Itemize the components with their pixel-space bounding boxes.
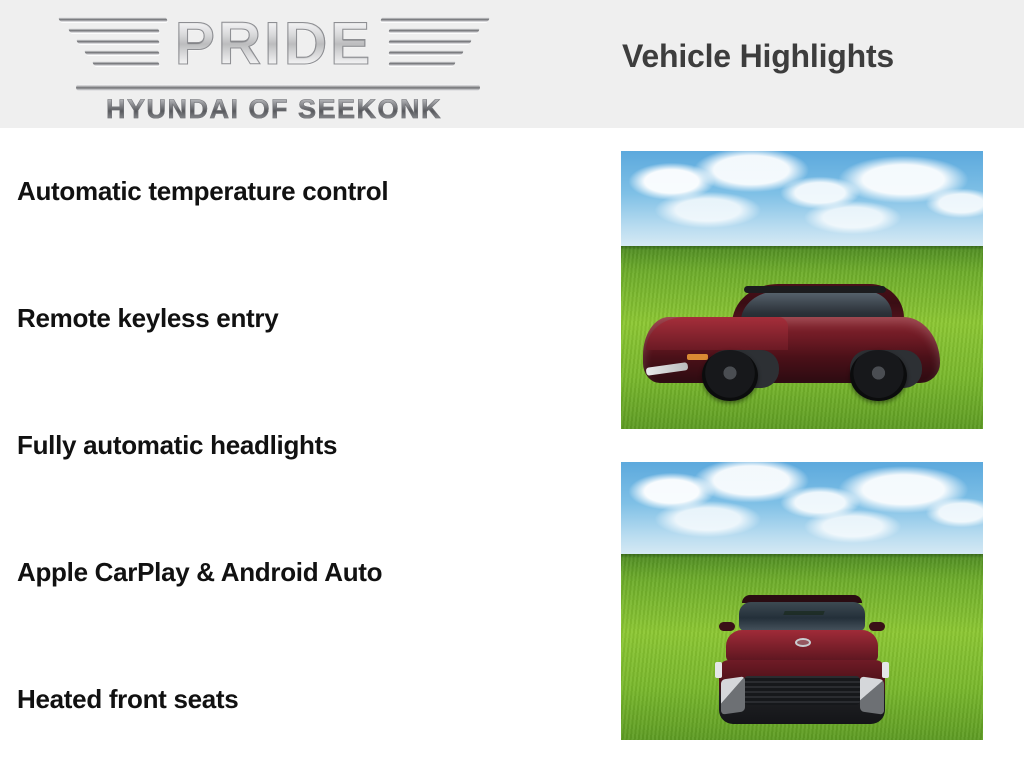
photo-sky: [621, 462, 983, 554]
header-bar: PRIDE HYUNDAI OF SEEKONK Vehicle Highlig…: [0, 0, 1024, 128]
highlight-item: Fully automatic headlights: [17, 430, 337, 461]
vehicle-photo-side-view: [621, 151, 983, 429]
logo-left-wing-icon: [51, 13, 169, 75]
dealer-logo[interactable]: PRIDE HYUNDAI OF SEEKONK: [18, 4, 530, 126]
highlight-item: Automatic temperature control: [17, 176, 388, 207]
photo-sky: [621, 151, 983, 246]
vehicle-highlights-page: PRIDE HYUNDAI OF SEEKONK Vehicle Highlig…: [0, 0, 1024, 768]
logo-wordmark-row: PRIDE: [18, 6, 530, 82]
highlight-item: Heated front seats: [17, 684, 238, 715]
logo-right-wing-icon: [379, 13, 497, 75]
highlight-item: Remote keyless entry: [17, 303, 278, 334]
logo-brand-text: PRIDE: [169, 14, 379, 74]
highlight-item: Apple CarPlay & Android Auto: [17, 557, 382, 588]
kona-front-silhouette: [712, 595, 893, 728]
logo-subtitle-text: HYUNDAI OF SEEKONK: [18, 94, 530, 125]
vehicle-photo-front-view: [621, 462, 983, 740]
kona-side-silhouette: [643, 273, 940, 401]
highlights-list: Automatic temperature control Remote key…: [17, 128, 607, 768]
logo-underbar-divider: [76, 84, 480, 91]
page-title: Vehicle Highlights: [622, 38, 894, 75]
